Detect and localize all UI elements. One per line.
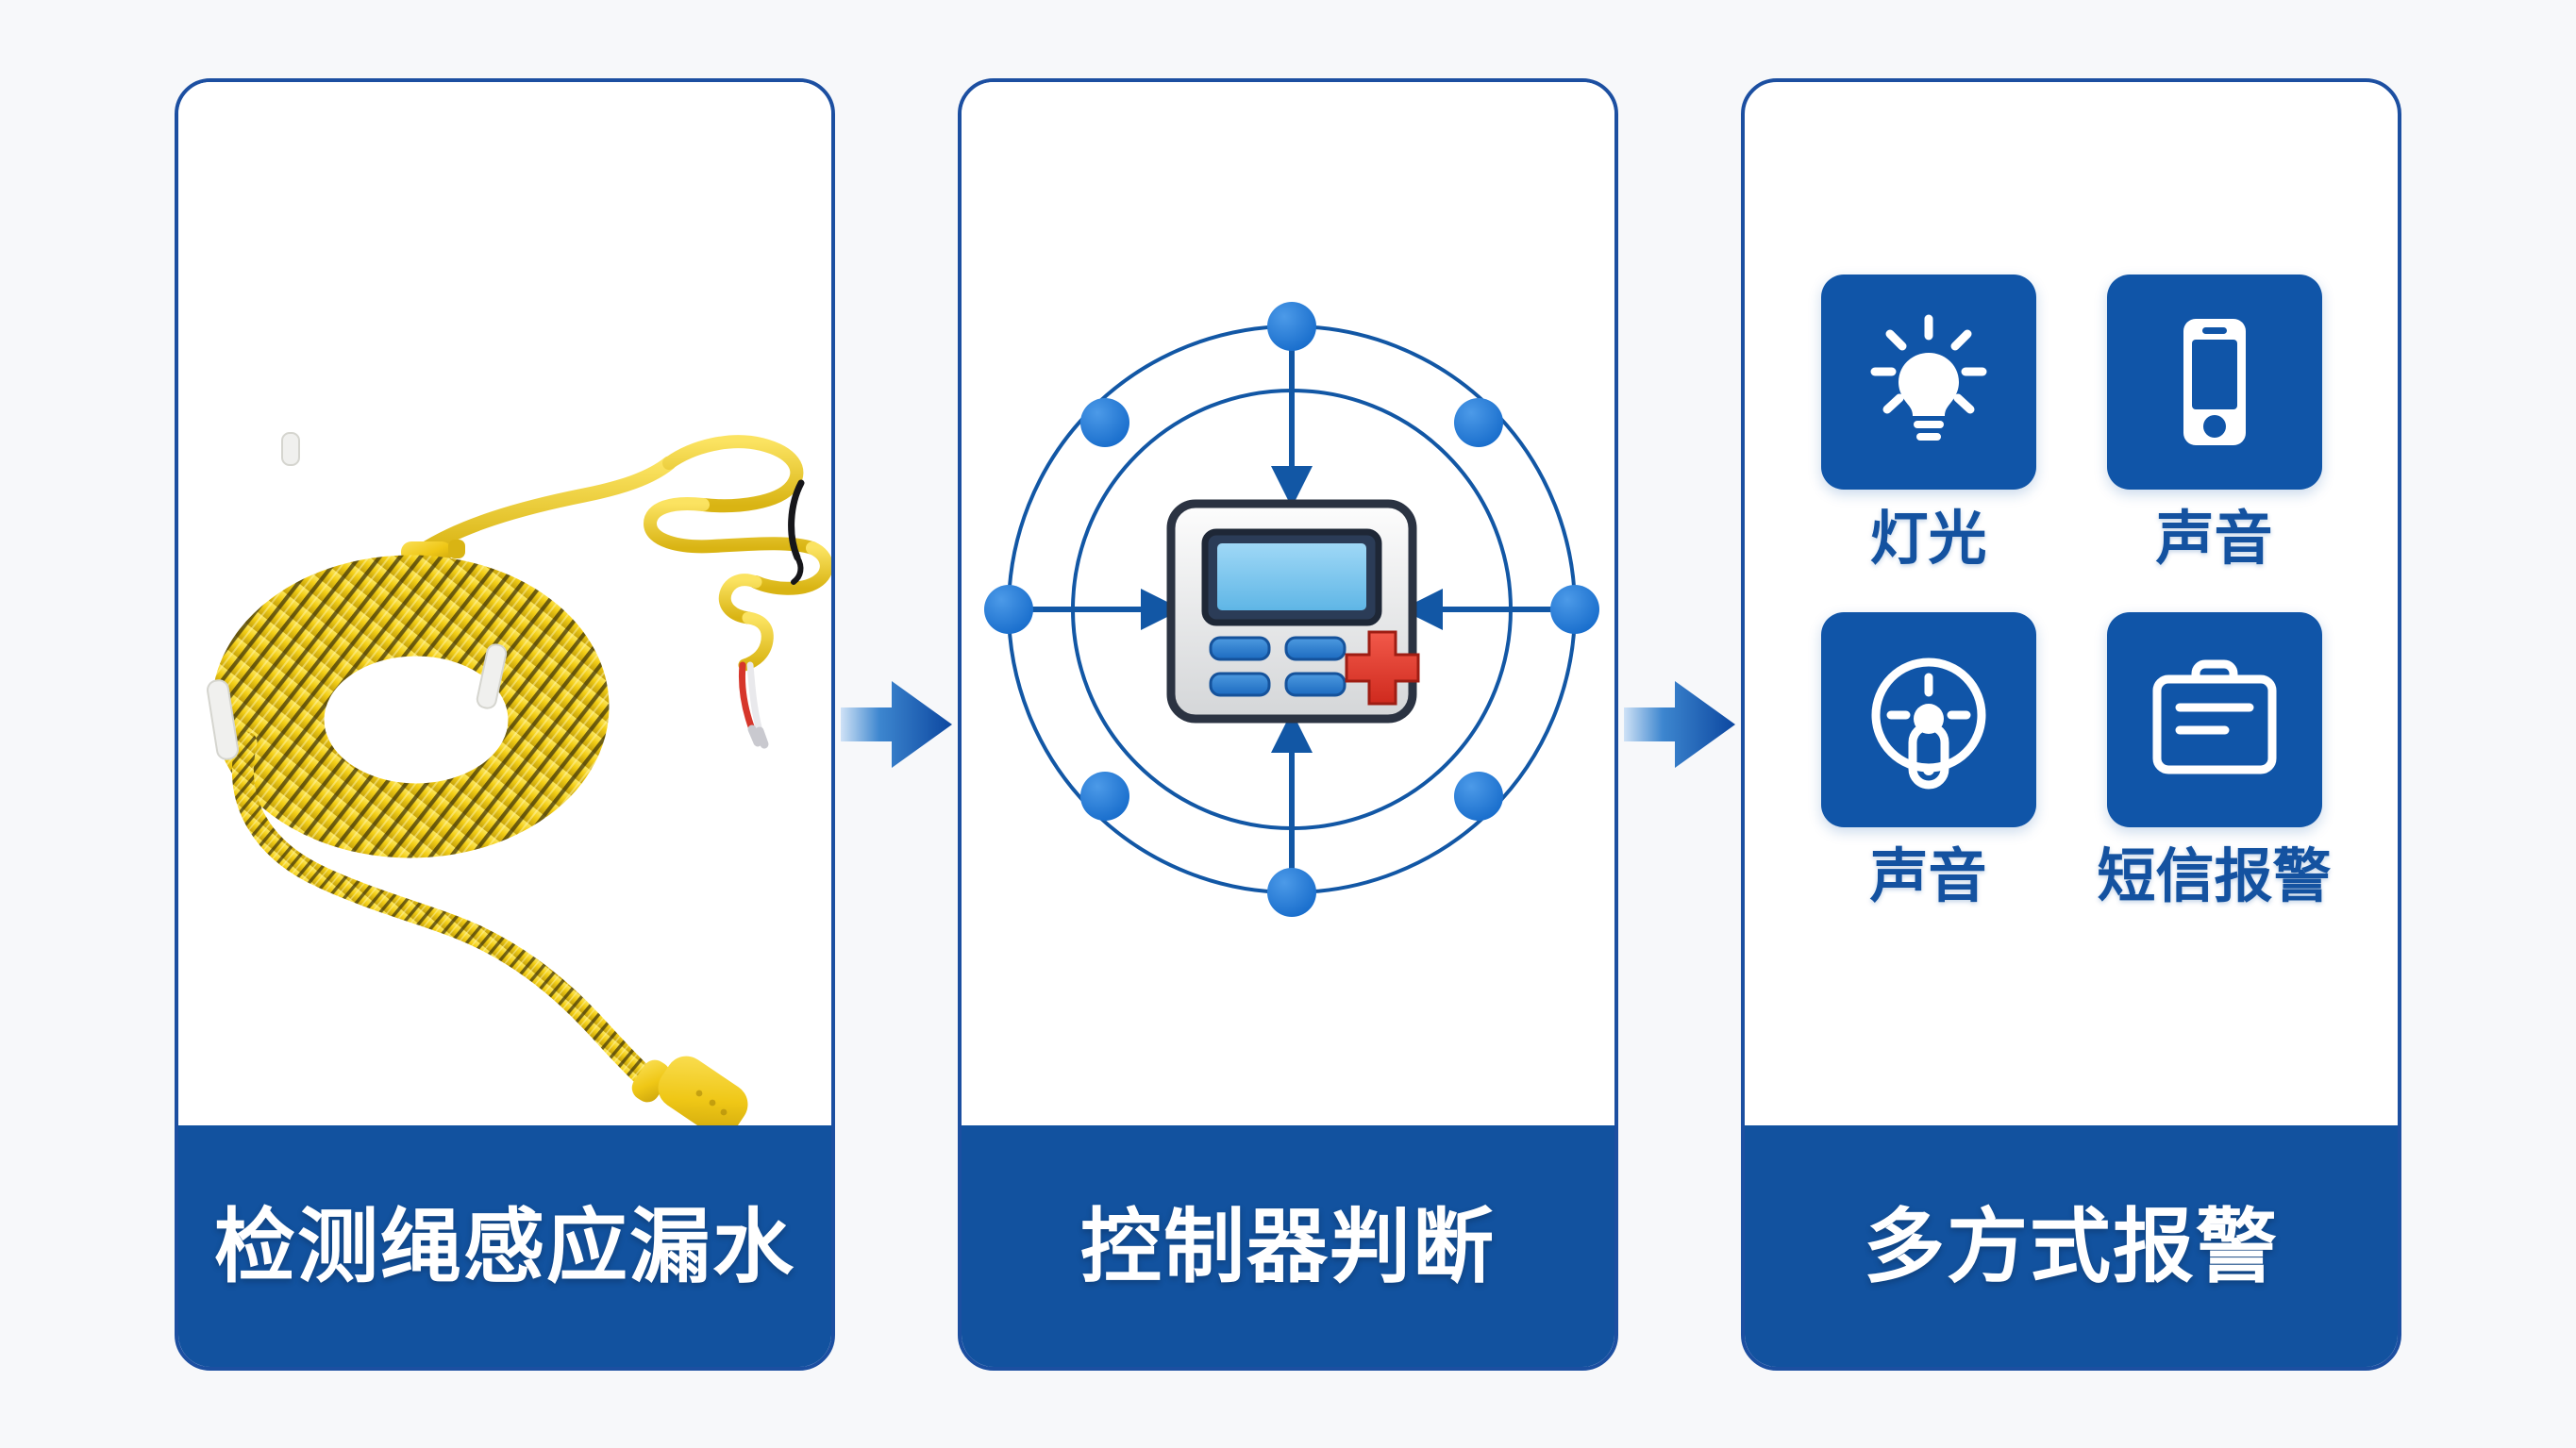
step-3-label: 多方式报警 <box>1864 1207 2279 1288</box>
controller-device <box>1171 504 1418 719</box>
step-1-illustration <box>178 82 831 1137</box>
alarm-method-sound-phone-label: 声音 <box>2155 510 2272 569</box>
smartphone-icon <box>2144 311 2285 453</box>
step-2-illustration <box>962 82 1614 1137</box>
step-3-illustration: 灯光 声音 <box>1745 82 2398 1137</box>
alarm-method-light-label: 灯光 <box>1869 510 1986 569</box>
connector-1 <box>835 663 958 786</box>
leak-rope-photo <box>178 82 831 1137</box>
lightbulb-icon <box>1858 311 1999 453</box>
alarm-methods-grid: 灯光 声音 <box>1807 275 2335 907</box>
controller-radial-diagram <box>962 82 1614 1137</box>
alarm-method-siren[interactable]: 声音 <box>1807 612 2049 907</box>
alarm-method-light[interactable]: 灯光 <box>1807 275 2049 569</box>
siren-tile <box>1821 612 2036 827</box>
siren-icon <box>1858 649 1999 791</box>
step-2-label: 控制器判断 <box>1080 1207 1496 1288</box>
step-2-footer: 控制器判断 <box>960 1125 1616 1369</box>
sms-tile <box>2107 612 2322 827</box>
light-tile <box>1821 275 2036 490</box>
arrow-right-icon <box>841 675 952 774</box>
connector-2 <box>1618 663 1741 786</box>
alarm-method-sound-phone[interactable]: 声音 <box>2093 275 2335 569</box>
step-1-label: 检测绳感应漏水 <box>214 1207 795 1288</box>
phone-tile <box>2107 275 2322 490</box>
step-1-footer: 检测绳感应漏水 <box>176 1125 833 1369</box>
alarm-method-sms-label: 短信报警 <box>2097 848 2331 907</box>
arrow-right-icon <box>1624 675 1735 774</box>
briefcase-icon <box>2144 649 2285 791</box>
step-card-2[interactable]: 控制器判断 <box>958 78 1618 1371</box>
alarm-method-siren-label: 声音 <box>1869 848 1986 907</box>
step-card-3[interactable]: 灯光 声音 <box>1741 78 2401 1371</box>
alarm-method-sms[interactable]: 短信报警 <box>2093 612 2335 907</box>
process-flow: 检测绳感应漏水 <box>0 0 2576 1448</box>
step-card-1[interactable]: 检测绳感应漏水 <box>175 78 835 1371</box>
step-3-footer: 多方式报警 <box>1743 1125 2400 1369</box>
